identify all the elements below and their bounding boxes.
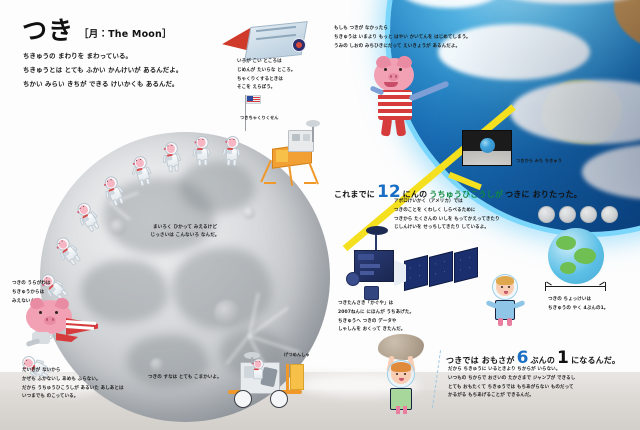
monitor-label: つきから みた ちきゅう: [516, 158, 562, 164]
monitor-earth-from-moon: [462, 130, 512, 166]
earth-diameter-diagram: [544, 228, 610, 294]
title-main: つき: [22, 18, 74, 43]
shuttle-landing-note: いろが こい ところは じめんが たいらな ところ。 ちゃくりくするときは そこ…: [237, 58, 296, 93]
pig-character-rocket: [26, 300, 96, 356]
gravity-detail-note: だから ちきゅうに いるときより ちからが いらない。 いつもの ちからで おさ…: [448, 366, 575, 401]
no-air-note: たいきが ないから かぜも ふかないし あめも ふらない。 だから うちゅうひこ…: [22, 367, 124, 402]
diameter-caption: つきの ちょっけいは ちきゅうの やく 4ぶんの1。: [548, 296, 608, 314]
gravity-headline: つきでは おもさが 6 ぶんの 1 になるんだ。: [446, 352, 620, 366]
gravity-post: になるんだ。: [571, 355, 620, 366]
gravity-mid: ぶんの: [530, 355, 555, 366]
apollo-pre: これまでに: [334, 189, 375, 200]
book-spread-page: まいろく ひかって みえるけど じっさいは こんないろ なんだ。 つき ［月：T…: [0, 0, 640, 430]
kid-astronaut-lifting: [378, 354, 424, 412]
apollo-post: つきに おりたった。: [505, 189, 582, 200]
page-title: つき ［月：The Moon］: [22, 18, 172, 43]
kaguya-probe-illustration: [348, 228, 478, 298]
gravity-pre: つきでは おもさが: [446, 355, 515, 366]
kid-astronaut-floating: [486, 274, 528, 326]
intro-text: ちきゅうの まわりを まわっている。 ちきゅうとは とても ふかい かんけいが …: [23, 50, 182, 91]
pig-character-flying: [370, 58, 446, 136]
astronaut-driver: [250, 359, 266, 384]
rover-label: げつめんしゃ: [284, 352, 310, 358]
us-flag-icon: [246, 95, 261, 104]
astronaut: [191, 135, 213, 166]
lunar-lander-illustration: [262, 120, 332, 186]
lunar-rover-illustration: [222, 350, 318, 412]
astronaut: [221, 136, 242, 167]
sand-note: つきの すなは とても こまかいよ。: [148, 374, 222, 383]
gravity-number: 6: [517, 352, 529, 366]
if-no-moon-note: もしも つきが なかったら ちきゅうは いまより もっと はやい かいてんを は…: [334, 24, 471, 52]
lander-label: つきちゃくりくせん: [240, 115, 279, 121]
kaguya-detail-note: つきたんさき「かぐや」は 2007ねんに にほんが うちあげた。 ちきゅうへ つ…: [338, 300, 414, 335]
title-subtitle: ［月：The Moon］: [79, 26, 172, 43]
astronaut: [160, 141, 184, 173]
gravity-number2: 1: [557, 352, 569, 366]
moon-color-note: まいろく ひかって みえるけど じっさいは こんないろ なんだ。: [110, 224, 260, 241]
